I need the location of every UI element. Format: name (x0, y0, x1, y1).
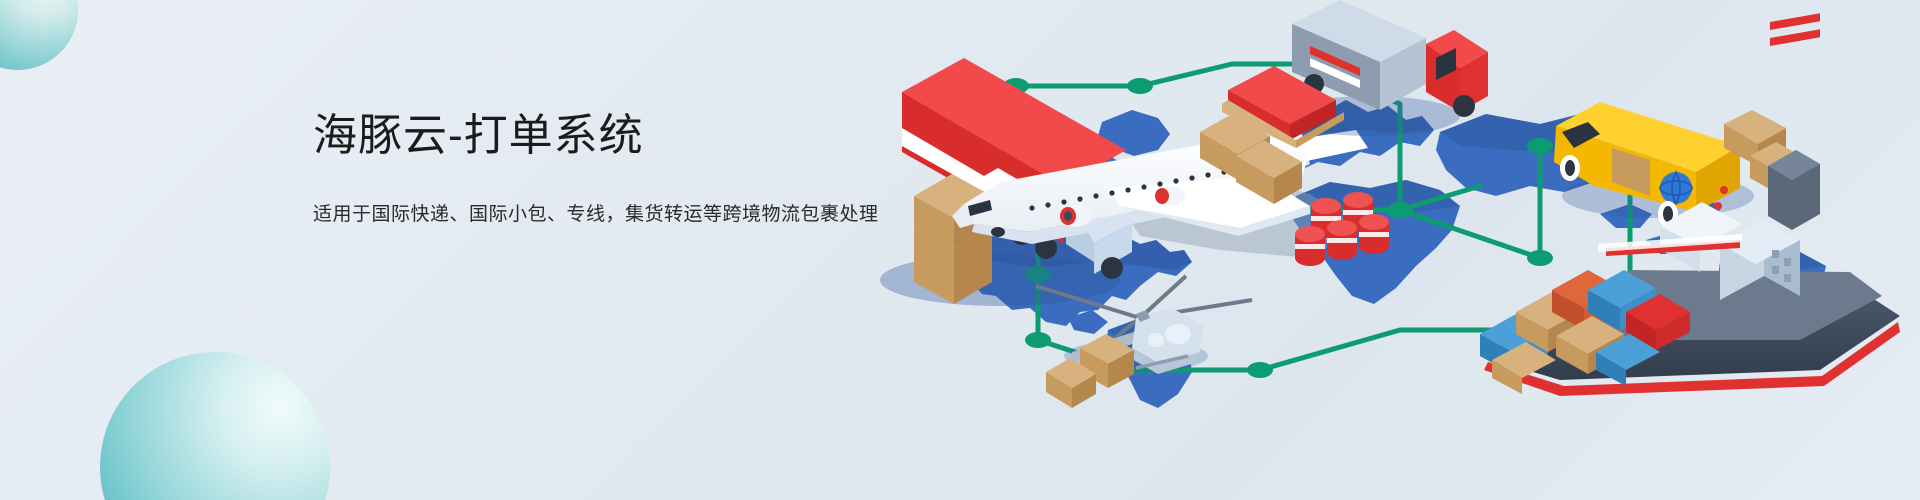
delivery-van-taillight (1720, 186, 1728, 194)
barrel (1359, 214, 1389, 254)
delivery-van-globe-logo (1660, 172, 1692, 204)
delivery-van-wheel (1565, 160, 1575, 176)
network-node (1247, 362, 1273, 378)
network-node (1127, 78, 1153, 94)
semi-truck-wheel (1101, 257, 1123, 279)
decorative-circle-top-left (0, 0, 78, 70)
network-node (1025, 332, 1051, 348)
hero-banner: 海豚云-打单系统 适用于国际快递、国际小包、专线，集货转运等跨境物流包裹处理 (0, 0, 1920, 500)
illustration-world-logistics (840, 0, 1920, 420)
network-node (1527, 250, 1553, 266)
barrel (1327, 220, 1357, 260)
barrel (1295, 226, 1325, 266)
airplane-engine (1155, 186, 1185, 206)
helicopter-window (1148, 333, 1164, 347)
ship-funnel-stripe (1770, 29, 1820, 46)
cargo-boxes-stack (914, 174, 992, 304)
network-node (1527, 138, 1553, 154)
ship-funnel-stripe (1770, 13, 1820, 30)
airplane-engine (1060, 205, 1092, 227)
box-truck-wheel (1453, 95, 1475, 117)
network-node (1387, 202, 1413, 218)
helicopter-window (1165, 324, 1191, 344)
decorative-circle-bottom-left (100, 352, 330, 500)
delivery-van-taillight (1714, 202, 1722, 210)
airplane-wheel (991, 227, 1005, 237)
